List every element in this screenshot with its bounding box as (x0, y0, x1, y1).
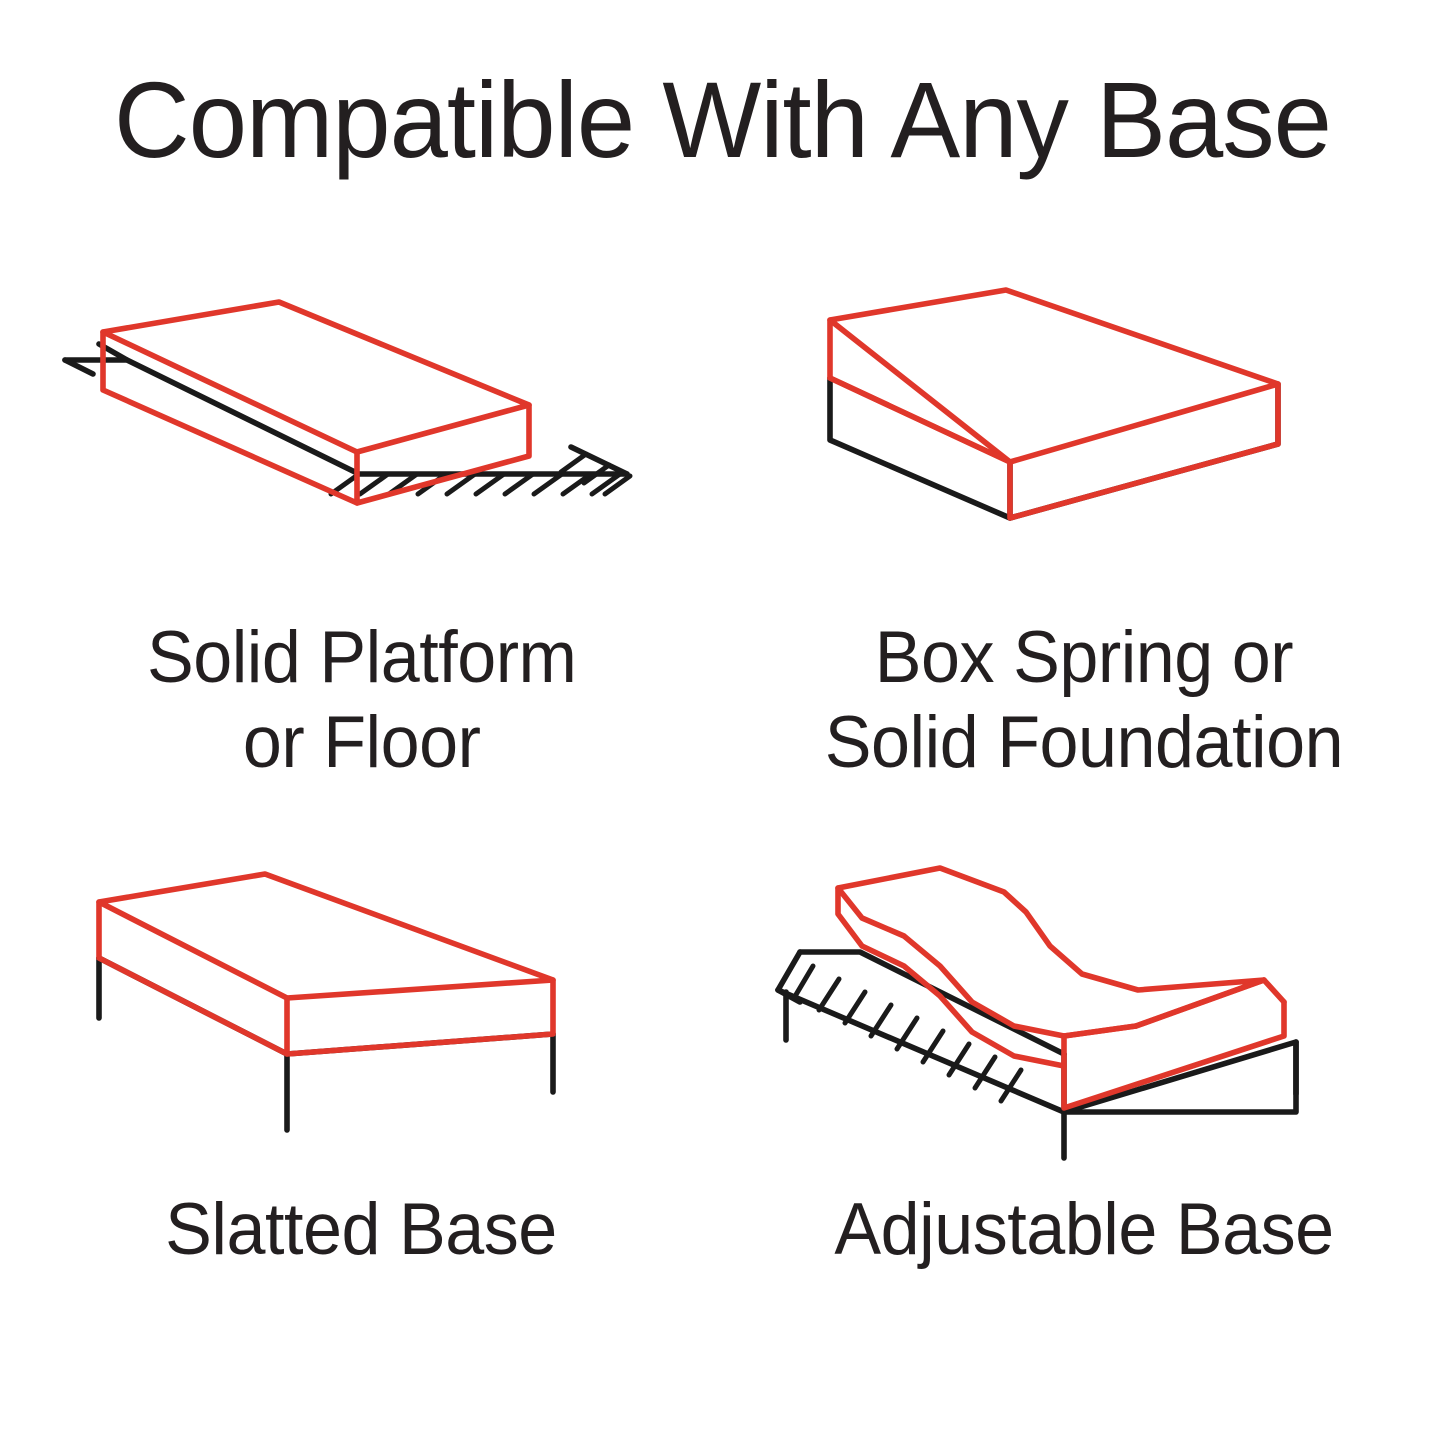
caption-box-spring: Box Spring or Solid Foundation (825, 616, 1343, 785)
mattress-on-adjustable-base-diagram (764, 840, 1404, 1170)
mattress-outline (838, 868, 1284, 1108)
mattress-outline (830, 290, 1278, 518)
base-option-adjustable[interactable]: Adjustable Base (723, 840, 1445, 1430)
mattress-outline (103, 302, 529, 503)
mattress-on-box-spring-diagram (764, 250, 1404, 610)
base-option-solid-platform[interactable]: Solid Platform or Floor (0, 250, 723, 840)
page-title: Compatible With Any Base (22, 62, 1424, 179)
caption-slatted-base: Slatted Base (165, 1188, 557, 1273)
mattress-outline (99, 874, 553, 1054)
mattress-on-slatted-base-diagram (41, 840, 681, 1170)
base-option-box-spring[interactable]: Box Spring or Solid Foundation (723, 250, 1445, 840)
caption-solid-platform: Solid Platform or Floor (146, 616, 576, 785)
base-options-grid: Solid Platform or Floor Box Spring or So… (0, 250, 1445, 1430)
infographic-page: Compatible With Any Base (0, 0, 1445, 1445)
base-option-slatted[interactable]: Slatted Base (0, 840, 723, 1430)
caption-adjustable-base: Adjustable Base (834, 1188, 1333, 1273)
mattress-on-solid-platform-diagram (41, 250, 681, 610)
